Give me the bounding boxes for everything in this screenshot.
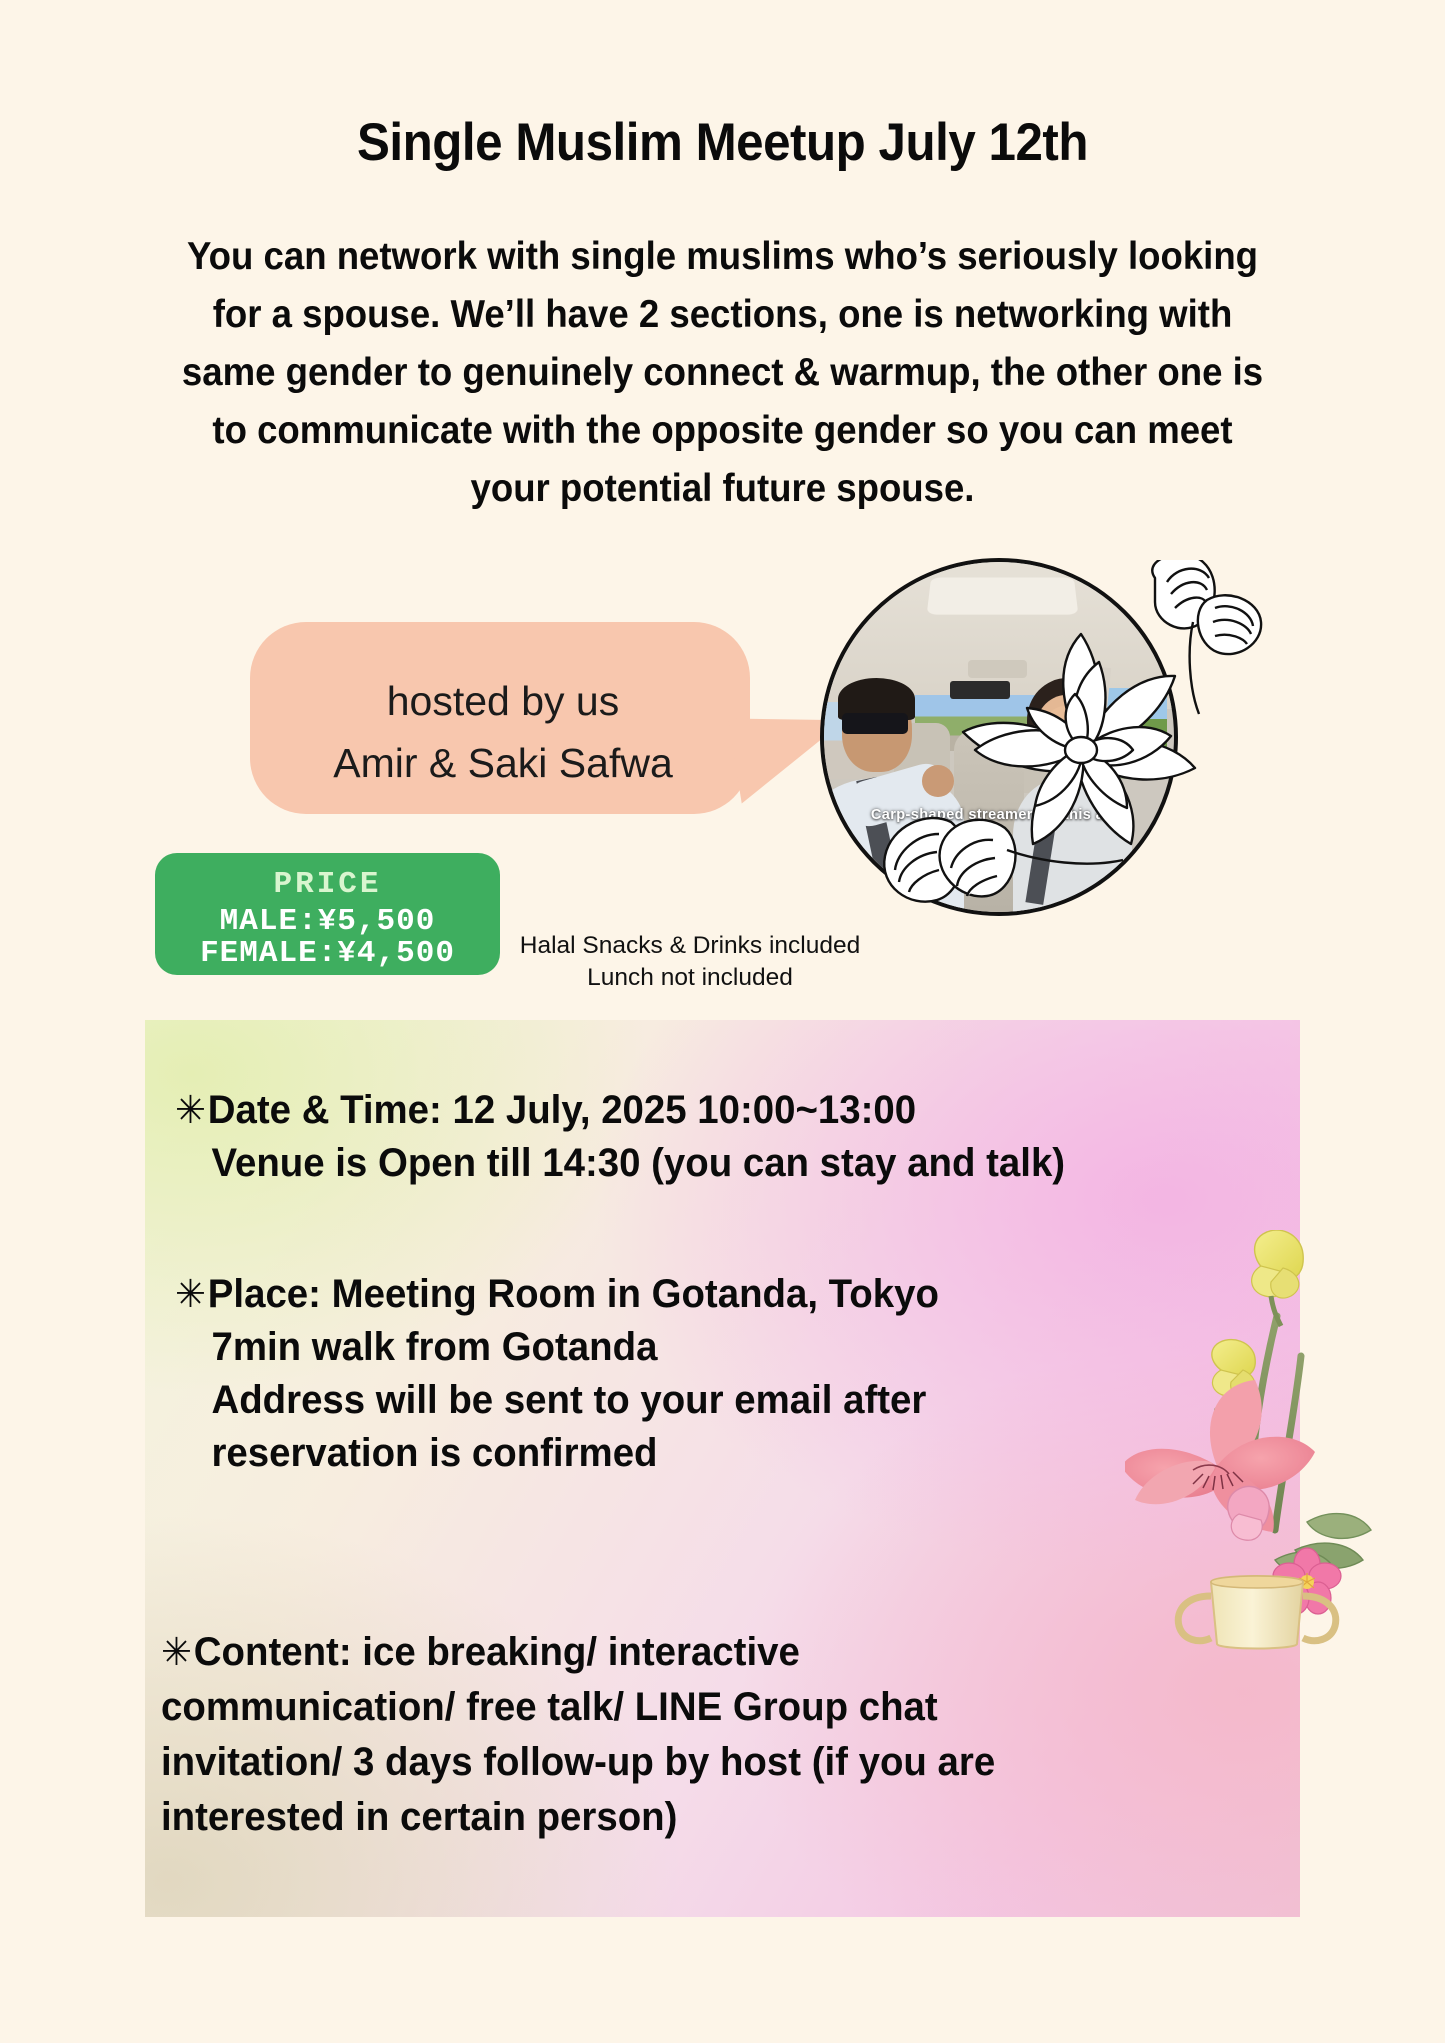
poster-canvas: Single Muslim Meetup July 12th You can n… [0,0,1445,2043]
hosts-photo: Carp-shaped streamers in this area [820,558,1178,916]
host-woman-face [1041,706,1094,769]
car-console [968,660,1028,678]
place-heading: Place: Meeting Room in Gotanda, Tokyo [208,1272,939,1316]
sunglasses-icon [842,713,909,734]
car-rearview-mirror [950,681,1010,699]
content-line2: communication/ free talk/ LINE Group cha… [161,1680,1255,1735]
detail-date-time: ✳Date & Time: 12 July, 2025 10:00~13:00 … [175,1084,1260,1189]
host-bubble-text: hosted by us Amir & Saki Safwa [258,670,748,794]
place-sub3: reservation is confirmed [175,1427,1164,1480]
snacks-included-note: Halal Snacks & Drinks included [510,930,870,962]
car-sunroof [927,577,1079,614]
detail-content: ✳Content: ice breaking/ interactive comm… [161,1625,1255,1845]
price-female: FEMALE:¥4,500 [155,936,500,971]
photo-caption: Carp-shaped streamers in this area [820,807,1178,823]
price-title: PRICE [155,867,500,902]
date-sub: Venue is Open till 14:30 (you can stay a… [175,1137,1260,1189]
host-man-hand [922,765,954,797]
host-bubble-line2: Amir & Saki Safwa [258,732,748,794]
event-details-panel: ✳Date & Time: 12 July, 2025 10:00~13:00 … [145,1020,1300,1917]
content-line3: invitation/ 3 days follow-up by host (if… [161,1735,1255,1790]
page-title: Single Muslim Meetup July 12th [51,112,1395,173]
place-sub2: Address will be sent to your email after [175,1374,1164,1427]
hosts-photo-circle [820,558,1178,916]
asterisk-icon: ✳ [175,1273,206,1316]
lunch-note: Lunch not included [510,962,870,994]
asterisk-icon: ✳ [175,1089,206,1132]
content-heading: Content: ice breaking/ interactive [194,1630,800,1674]
host-bubble-line1: hosted by us [387,678,620,724]
price-box: PRICE MALE:¥5,500 FEMALE:¥4,500 [155,853,500,975]
content-line4: interested in certain person) [161,1790,1255,1845]
asterisk-icon: ✳ [161,1631,192,1674]
place-sub1: 7min walk from Gotanda [175,1321,1164,1374]
intro-paragraph: You can network with single muslims who’… [169,228,1276,518]
date-heading: Date & Time: 12 July, 2025 10:00~13:00 [208,1088,916,1132]
detail-place: ✳Place: Meeting Room in Gotanda, Tokyo 7… [175,1268,1164,1480]
inclusion-notes: Halal Snacks & Drinks included Lunch not… [510,930,870,994]
price-male: MALE:¥5,500 [155,904,500,939]
